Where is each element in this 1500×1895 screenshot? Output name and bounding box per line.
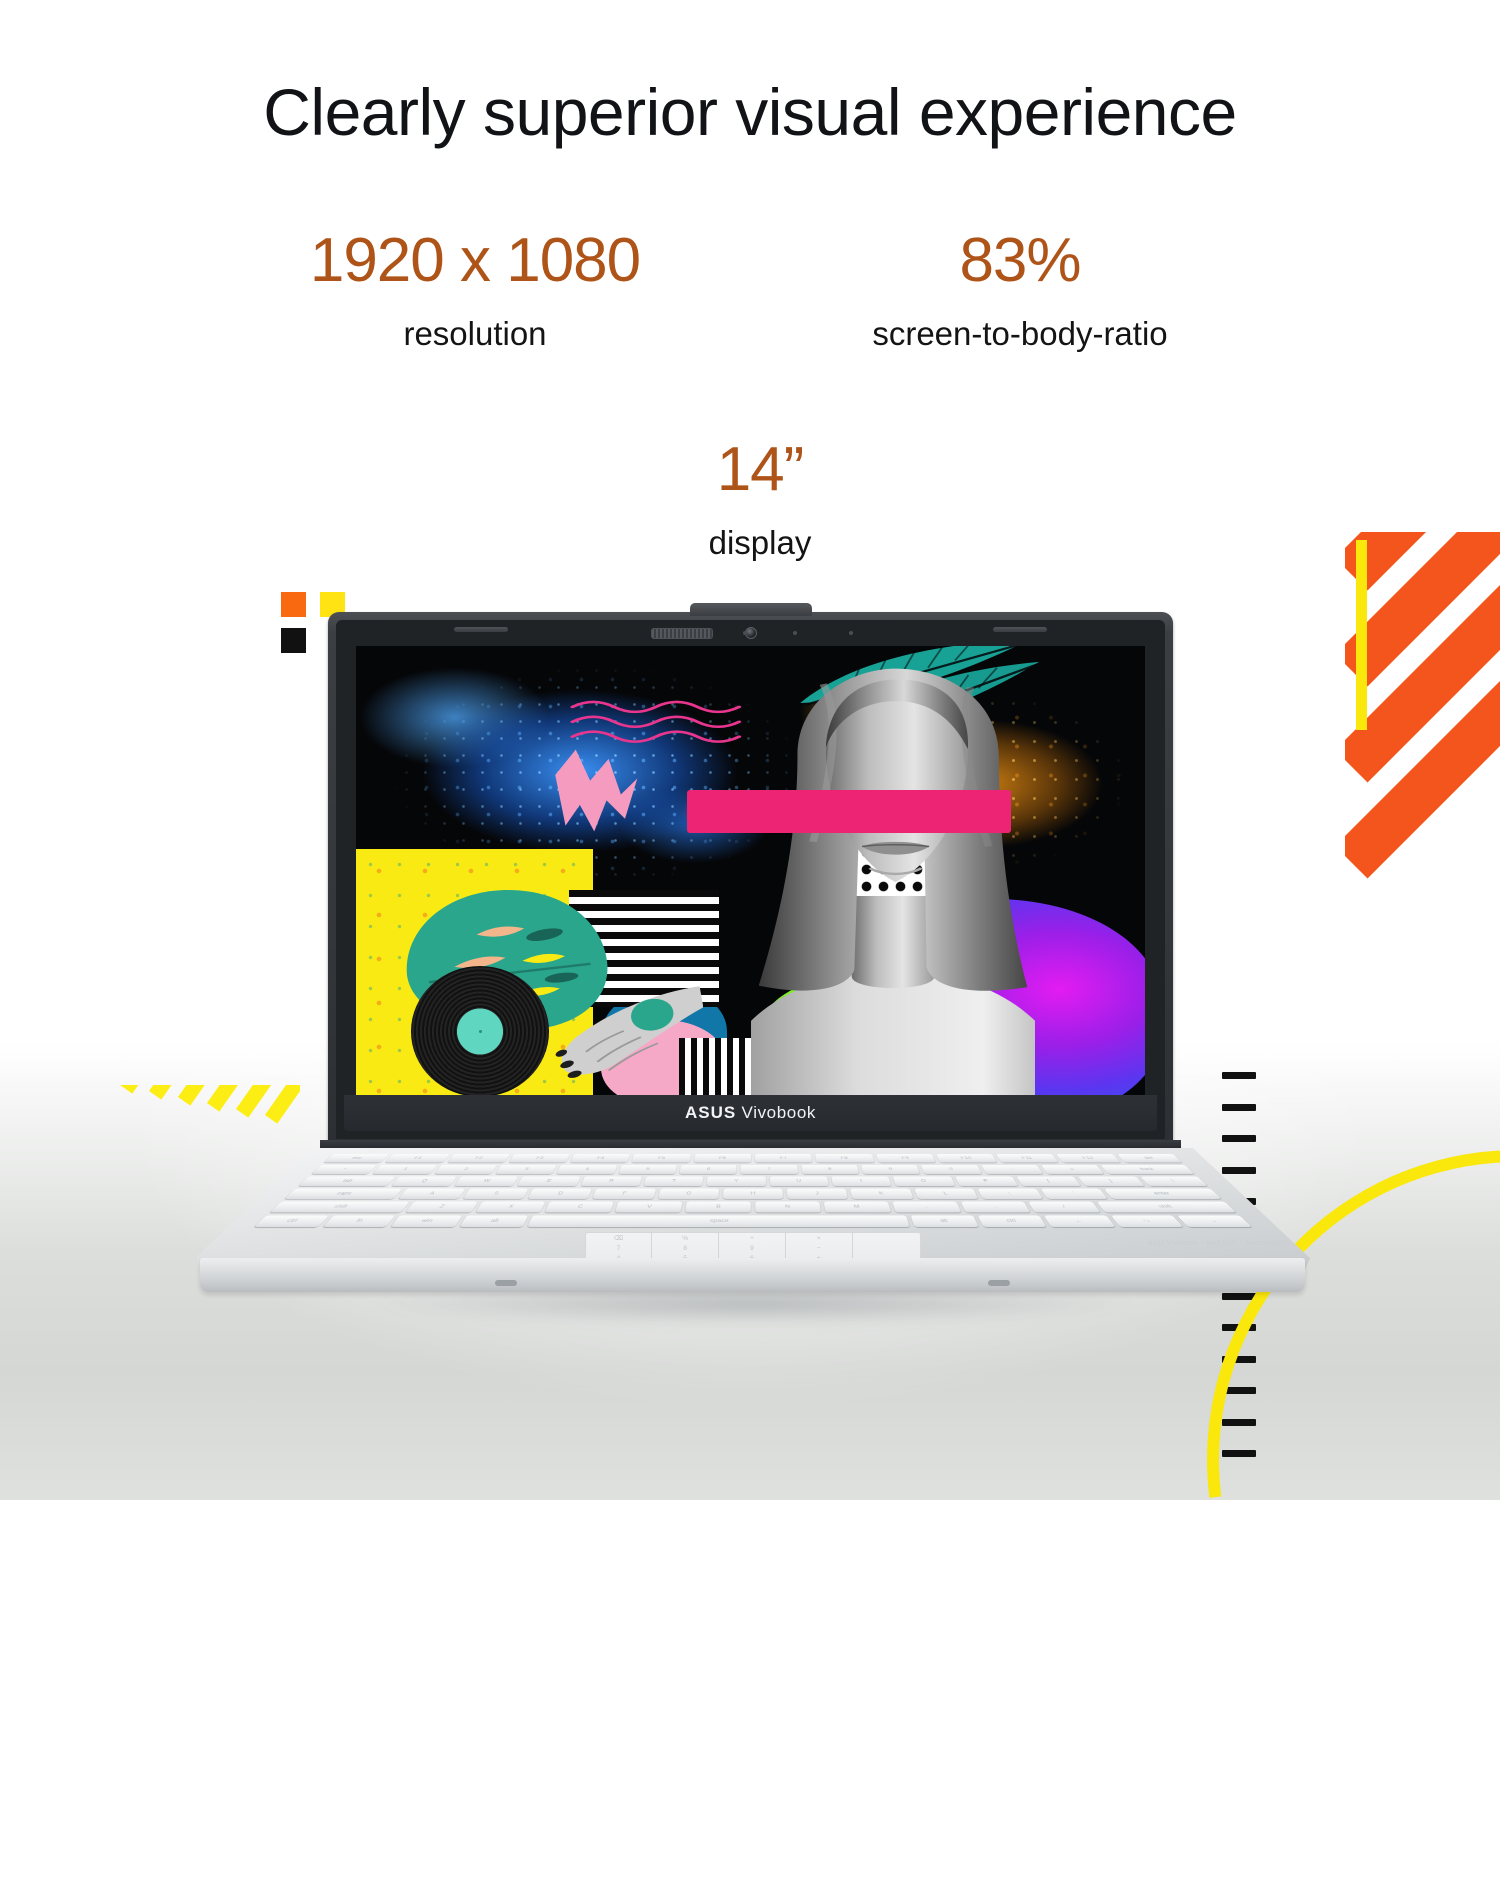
spec-value-resolution: 1920 x 1080 [225, 228, 725, 293]
numberpad-key[interactable] [853, 1243, 920, 1253]
webcam-privacy-shutter-icon [651, 628, 713, 639]
webcam-sensor-dot-icon [793, 631, 797, 635]
keyboard-key[interactable]: F5 [632, 1154, 691, 1163]
keyboard-key[interactable]: W [454, 1176, 518, 1186]
keyboard-row: capsASDFGHJKL;'enter [284, 1189, 1221, 1199]
keyboard-key[interactable]: Y [707, 1176, 766, 1186]
keyboard-key[interactable]: 3 [495, 1165, 557, 1174]
numberpad-key[interactable]: 9 [719, 1243, 786, 1253]
wallpaper-model-portrait [751, 664, 1035, 1097]
keyboard-key[interactable]: space [528, 1215, 910, 1227]
keyboard-key[interactable]: ctrl [254, 1215, 329, 1227]
brand-name: ASUS [685, 1103, 736, 1122]
keyboard-key[interactable]: . [960, 1202, 1031, 1213]
webcam-sensor-dot-icon [743, 631, 747, 635]
spec-block-display-size: 14” display [600, 437, 920, 562]
numberpad-key[interactable]: × [786, 1233, 853, 1243]
keyboard-key[interactable]: K [850, 1189, 913, 1199]
laptop-keyboard: escF1F2F3F4F5F6F7F8F9F10F11F12del~123456… [287, 1154, 1219, 1196]
numberpad-key[interactable]: 7 [586, 1243, 653, 1253]
keyboard-key[interactable]: H [723, 1189, 784, 1199]
decorative-yellow-vertical-bar [1356, 540, 1367, 730]
wallpaper-magenta-censor-bar [687, 790, 1010, 833]
keyboard-key[interactable]: I [831, 1176, 892, 1186]
webcam-strip [643, 625, 859, 642]
keyboard-key[interactable]: 9 [861, 1165, 921, 1174]
wallpaper-hand-icon [514, 980, 703, 1079]
keyboard-key[interactable]: D [528, 1189, 592, 1199]
keyboard-key[interactable]: 7 [741, 1165, 798, 1174]
keyboard-key[interactable]: F11 [996, 1154, 1059, 1163]
keyboard-key[interactable]: 0 [921, 1165, 982, 1174]
keyboard-key[interactable]: Q [391, 1176, 457, 1186]
spec-block-screen-to-body-ratio: 83% screen-to-body-ratio [760, 228, 1280, 353]
wallpaper-lightning-bolt-icon [545, 745, 648, 849]
keyboard-key[interactable]: G [658, 1189, 719, 1199]
vinyl-spindle-hole-icon [479, 1030, 482, 1033]
spec-block-resolution: 1920 x 1080 resolution [225, 228, 725, 353]
brand-model: Vivobook [736, 1103, 816, 1122]
webcam-sensor-dot-icon [849, 631, 853, 635]
keyboard-key[interactable]: F8 [815, 1154, 874, 1163]
keyboard-key[interactable]: 6 [679, 1165, 737, 1174]
laptop-lid: ASUS Vivobook [328, 612, 1173, 1147]
keyboard-key[interactable]: 1 [373, 1165, 437, 1174]
keyboard-key[interactable]: win [391, 1215, 462, 1227]
keyboard-key[interactable]: ] [1078, 1176, 1145, 1186]
keyboard-key[interactable]: S [463, 1189, 529, 1199]
keyboard-key[interactable]: 2 [434, 1165, 497, 1174]
laptop-foot-right [988, 1280, 1010, 1286]
keyboard-key[interactable]: ' [1041, 1189, 1109, 1199]
laptop-screen-wallpaper [356, 646, 1145, 1097]
keyboard-key[interactable]: T [644, 1176, 704, 1186]
keyboard-key[interactable]: C [545, 1202, 614, 1213]
numberpad-key[interactable]: − [786, 1243, 853, 1253]
keyboard-key[interactable]: - [981, 1165, 1043, 1174]
numberpad-key[interactable] [853, 1233, 920, 1243]
bezel-notch-right [993, 627, 1047, 632]
keyboard-key[interactable]: 4 [557, 1165, 617, 1174]
keyboard-key[interactable]: , [892, 1202, 961, 1213]
keyboard-key[interactable]: shift [270, 1202, 410, 1213]
keyboard-key[interactable]: M [824, 1202, 891, 1213]
spec-label-resolution: resolution [225, 315, 725, 353]
keyboard-key[interactable]: ctrl [977, 1215, 1047, 1227]
keyboard-row: shiftZXCVBNM,./shift [270, 1202, 1237, 1213]
numberpad-key[interactable]: 8 [652, 1243, 719, 1253]
keyboard-key[interactable]: O [893, 1176, 955, 1186]
keyboard-key[interactable]: esc [324, 1154, 390, 1163]
wallpaper-pink-wavy-lines-icon [569, 696, 743, 746]
spec-value-screen-to-body-ratio: 83% [760, 228, 1280, 293]
keyboard-row: escF1F2F3F4F5F6F7F8F9F10F11F12del [324, 1154, 1183, 1163]
keyboard-key[interactable]: / [1029, 1202, 1101, 1213]
laptop-foot-left [495, 1280, 517, 1286]
keyboard-key[interactable]: J [787, 1189, 848, 1199]
spec-label-display-size: display [600, 524, 920, 562]
numberpad-key[interactable]: % [652, 1233, 719, 1243]
keyboard-key[interactable]: F2 [447, 1154, 510, 1163]
page-title: Clearly superior visual experience [0, 74, 1500, 150]
webcam-bump [690, 603, 812, 616]
keyboard-key[interactable]: alt [911, 1215, 979, 1227]
numberpad-key[interactable]: ÷ [719, 1233, 786, 1243]
keyboard-key[interactable]: ↑↓ [1111, 1215, 1184, 1227]
keyboard-key[interactable]: caps [284, 1189, 402, 1199]
keyboard-key[interactable]: N [755, 1202, 821, 1213]
laptop-front-edge [200, 1258, 1305, 1292]
keyboard-key[interactable]: ~ [311, 1165, 377, 1174]
keyboard-key[interactable]: = [1041, 1165, 1105, 1174]
keyboard-key[interactable]: F7 [755, 1154, 813, 1163]
keyboard-key[interactable]: F4 [570, 1154, 630, 1163]
keyboard-row: ~1234567890-=back [311, 1165, 1195, 1174]
keyboard-key[interactable]: fn [322, 1215, 395, 1227]
keyboard-key[interactable]: 8 [801, 1165, 859, 1174]
spec-label-screen-to-body-ratio: screen-to-body-ratio [760, 315, 1280, 353]
keyboard-key[interactable]: Z [405, 1202, 477, 1213]
keyboard-key[interactable]: tab [298, 1176, 395, 1186]
keyboard-key[interactable]: F3 [508, 1154, 570, 1163]
keyboard-key[interactable]: F12 [1056, 1154, 1120, 1163]
keyboard-key[interactable]: [ [1016, 1176, 1081, 1186]
keyboard-row: tabQWERTYUIOP[]\ [298, 1176, 1208, 1186]
keyboard-key[interactable]: U [769, 1176, 828, 1186]
keyboard-key[interactable]: P [955, 1176, 1019, 1186]
keyboard-key[interactable]: ; [977, 1189, 1043, 1199]
laptop-base: escF1F2F3F4F5F6F7F8F9F10F11F12del~123456… [195, 1148, 1310, 1300]
bezel-notch-left [454, 627, 508, 632]
keyboard-key[interactable]: 5 [618, 1165, 677, 1174]
decorative-orange-diagonal-stripes [1345, 532, 1500, 987]
laptop-lid-inner: ASUS Vivobook [336, 620, 1165, 1139]
keyboard-key[interactable]: F1 [385, 1154, 449, 1163]
laptop-bottom-bezel: ASUS Vivobook [344, 1095, 1157, 1131]
keyboard-row: ctrlfnwinaltspacealtctrl←↑↓→ [254, 1215, 1252, 1227]
laptop-product-image: ASUS Vivobook escF1F2F3F4F5F6F7F8F9F10F1… [195, 612, 1310, 1302]
brand-logo: ASUS Vivobook [685, 1103, 816, 1123]
palmrest-text: Asus Vivobook ~ MyASUS ~ ScreenXpert [1148, 1240, 1288, 1247]
keyboard-key[interactable]: F9 [876, 1154, 936, 1163]
spec-value-display-size: 14” [600, 437, 920, 502]
keyboard-key[interactable]: F [593, 1189, 656, 1199]
numberpad-key[interactable]: ⌫ [586, 1233, 653, 1243]
keyboard-key[interactable]: F6 [693, 1154, 751, 1163]
keyboard-key[interactable]: A [398, 1189, 466, 1199]
keyboard-key[interactable]: V [615, 1202, 682, 1213]
keyboard-key[interactable]: X [475, 1202, 546, 1213]
keyboard-key[interactable]: B [685, 1202, 751, 1213]
keyboard-key[interactable]: alt [459, 1215, 529, 1227]
keyboard-key[interactable]: F10 [936, 1154, 998, 1163]
keyboard-key[interactable]: ← [1044, 1215, 1115, 1227]
keyboard-key[interactable]: E [517, 1176, 580, 1186]
keyboard-key[interactable]: R [580, 1176, 641, 1186]
keyboard-key[interactable]: L [914, 1189, 978, 1199]
